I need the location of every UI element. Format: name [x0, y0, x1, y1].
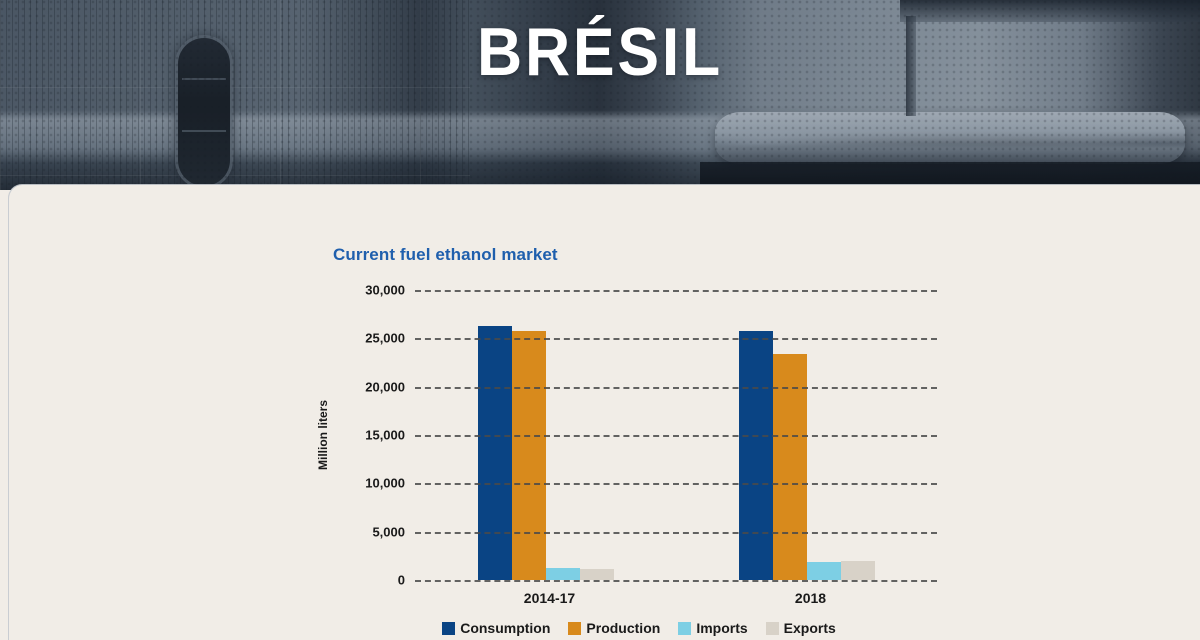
- gridline: [415, 290, 937, 292]
- legend-item-production[interactable]: Production: [568, 620, 660, 636]
- gridline: [415, 387, 937, 389]
- y-axis-title-label: Million liters: [316, 400, 330, 470]
- gridline: [415, 435, 937, 437]
- bar-consumption: [739, 331, 773, 580]
- legend-item-consumption[interactable]: Consumption: [442, 620, 550, 636]
- hero-banner: BRÉSIL: [0, 0, 1200, 190]
- chart-plot-area: Million liters 30,00025,00020,00015,0001…: [319, 290, 959, 580]
- bar-consumption: [478, 326, 512, 580]
- x-axis-labels: 2014-172018: [415, 590, 937, 606]
- chart-legend: ConsumptionProductionImportsExports: [319, 620, 959, 636]
- y-axis-tick-label: 25,000: [365, 331, 405, 346]
- bar-production: [512, 331, 546, 580]
- x-axis-category-label: 2014-17: [415, 590, 676, 606]
- legend-swatch-icon: [442, 622, 455, 635]
- legend-item-exports[interactable]: Exports: [766, 620, 836, 636]
- chart-title: Current fuel ethanol market: [333, 245, 558, 265]
- y-axis-tick-label: 20,000: [365, 379, 405, 394]
- y-axis-tick-label: 0: [398, 573, 405, 588]
- page-title: BRÉSIL: [48, 14, 1152, 90]
- x-axis-category-label: 2018: [676, 590, 937, 606]
- bar-exports: [841, 561, 875, 580]
- y-axis-title: Million liters: [313, 290, 333, 580]
- gridline: [415, 580, 937, 582]
- chart-container: Current fuel ethanol market Million lite…: [319, 245, 959, 635]
- legend-swatch-icon: [766, 622, 779, 635]
- y-axis-tick-label: 30,000: [365, 283, 405, 298]
- gridline: [415, 338, 937, 340]
- y-axis-tick-label: 10,000: [365, 476, 405, 491]
- legend-label: Exports: [784, 620, 836, 636]
- gridline: [415, 532, 937, 534]
- legend-swatch-icon: [678, 622, 691, 635]
- legend-item-imports[interactable]: Imports: [678, 620, 747, 636]
- y-axis-ticks: 30,00025,00020,00015,00010,0005,0000: [333, 290, 405, 580]
- bar-imports: [807, 562, 841, 580]
- legend-label: Production: [586, 620, 660, 636]
- bar-imports: [546, 568, 580, 580]
- content-card: Current fuel ethanol market Million lite…: [8, 185, 1200, 640]
- y-axis-tick-label: 5,000: [372, 524, 405, 539]
- y-axis-tick-label: 15,000: [365, 428, 405, 443]
- legend-swatch-icon: [568, 622, 581, 635]
- plot-canvas: [415, 290, 937, 580]
- legend-label: Consumption: [460, 620, 550, 636]
- gridline: [415, 483, 937, 485]
- page-root: BRÉSIL Current fuel ethanol market Milli…: [0, 0, 1200, 640]
- bar-exports: [580, 569, 614, 580]
- legend-label: Imports: [696, 620, 747, 636]
